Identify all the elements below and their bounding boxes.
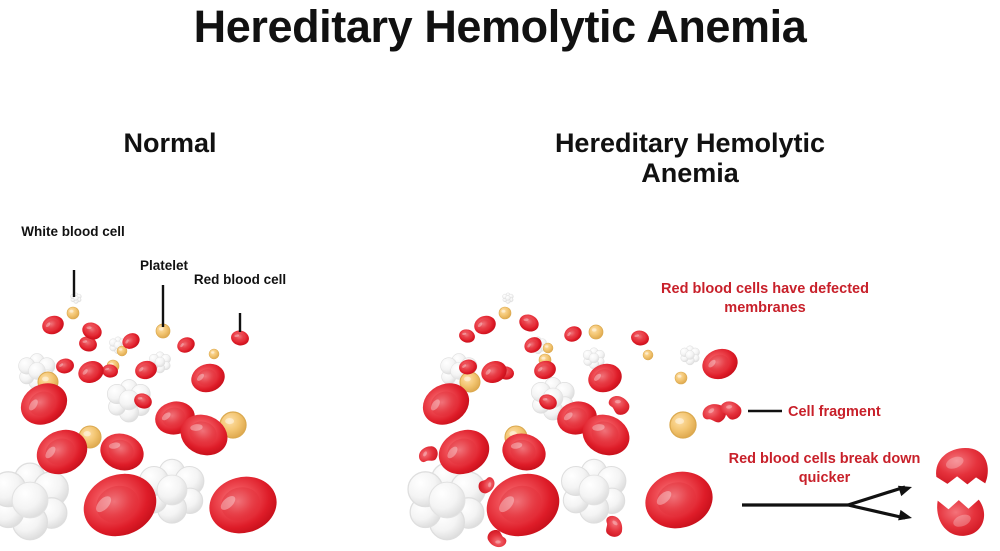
annotation-break-down-quicker: Red blood cells break down quicker [722,450,927,488]
arrow-branch-upper [848,487,905,505]
label-white-blood-cell: White blood cell [14,224,132,241]
illustration-canvas: Hereditary Hemolytic Anemia Normal Hered… [0,0,1000,551]
panel-heading-normal: Normal [30,128,310,158]
arrow-head-lower [898,510,913,523]
arrow-branch-lower [848,505,905,518]
panel-heading-hereditary-hemolytic-anemia: Hereditary Hemolytic Anemia [505,128,875,188]
page-title: Hereditary Hemolytic Anemia [0,2,1000,52]
annotation-defected-membranes: Red blood cells have defected membranes [650,280,880,318]
breakdown-arrow [742,482,914,523]
annotation-cell-fragment: Cell fragment [788,403,881,422]
label-red-blood-cell: Red blood cell [192,272,288,289]
